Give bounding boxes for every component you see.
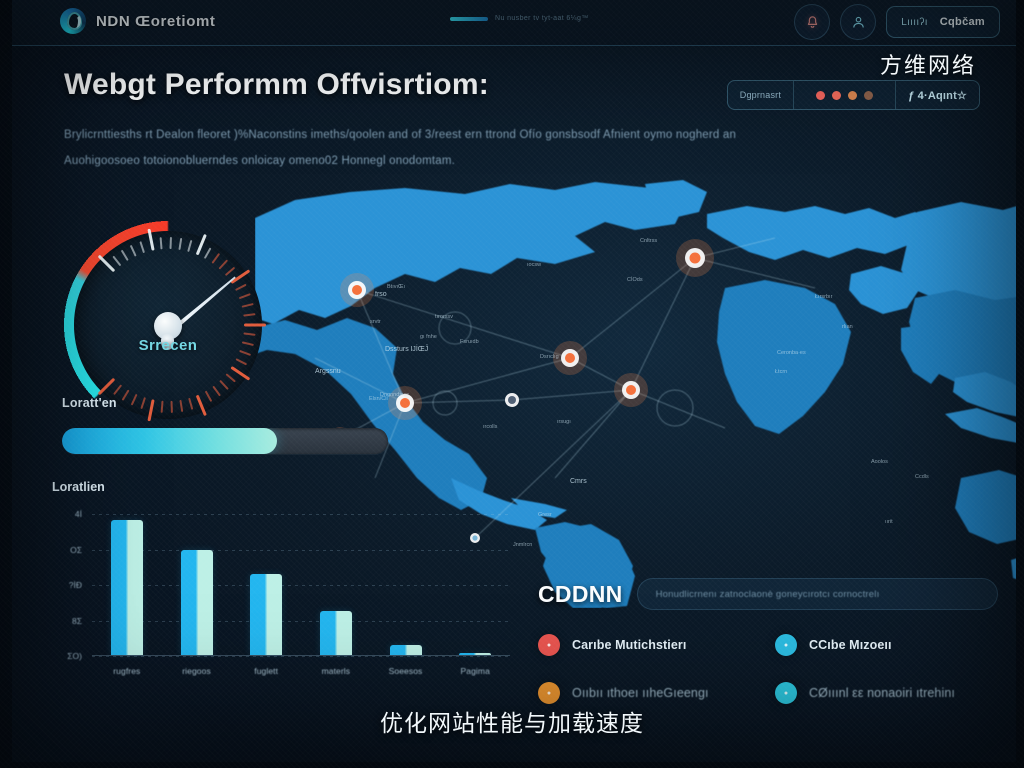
notification-button[interactable] — [794, 4, 830, 40]
cdn-search-placeholder: Honudlicrnenı zatnoclaonè goneycırotcı c… — [656, 589, 880, 600]
chart-x-tick-label: materls — [301, 666, 371, 676]
status-dot-2 — [832, 91, 841, 100]
table-row[interactable] — [250, 574, 282, 655]
gauge-tick — [225, 267, 235, 276]
gauge-tick — [235, 358, 247, 365]
table-row[interactable] — [320, 611, 352, 655]
cdn-legend-list: ●Carıbe Mutichstierı●CCıbe Mızoeıı●Oııbı… — [538, 634, 998, 704]
cdn-search-field[interactable]: Honudlicrnenı zatnoclaonè goneycırotcı c… — [637, 578, 998, 610]
performance-gauge: Srrecen — [48, 205, 288, 380]
chart-x-tick-label: rugfres — [92, 666, 162, 676]
chart-bar-slot — [371, 645, 441, 655]
map-place-label: Łırsrbır — [815, 294, 833, 300]
gauge-tick — [225, 373, 235, 382]
chart-x-axis — [92, 655, 510, 656]
chart-y-tick-label: 8Ʃ — [72, 616, 82, 626]
list-item[interactable]: ●Carıbe Mutichstierı — [538, 634, 761, 656]
list-item-label: Carıbe Mutichstierı — [572, 638, 686, 652]
map-place-label: gı fnhe — [420, 334, 437, 340]
dashboard-canvas: CnltrssfrsoDssturs ĲİŒĴŁırsrbırrlıanCero… — [0, 0, 1024, 768]
map-place-label: Cnltrss — [640, 238, 657, 244]
gauge-tick — [130, 245, 137, 257]
bell-notification-icon — [805, 15, 820, 30]
map-place-label: Ceronba·es — [777, 350, 806, 356]
brand-logo[interactable]: NDN Œoretiomt — [60, 8, 216, 34]
page-subtitle: Brylicrnttiesths rt Dealon fleoret )%Nac… — [64, 122, 764, 174]
gauge-tick — [121, 250, 129, 261]
status-dot-4 — [864, 91, 873, 100]
list-item[interactable]: ●CCıbe Mızoeıı — [775, 634, 998, 656]
gauge-tick — [219, 380, 229, 390]
chart-y-tick-label: ƩO) — [67, 651, 82, 661]
globe-cache-icon: ● — [538, 634, 560, 656]
segment-right-label: ƒ 4·Aqınt☆ — [908, 89, 967, 102]
map-place-label: srvtr — [370, 319, 381, 325]
auth-buttons-group[interactable]: Lııııʔı Cqbčam — [886, 6, 1000, 38]
map-place-label: ırcolls — [483, 424, 498, 430]
login-button[interactable]: Lııııʔı — [901, 17, 928, 28]
table-row[interactable] — [390, 645, 422, 655]
brand-name: NDN Œoretiomt — [96, 13, 216, 30]
shield-opt-icon: ● — [538, 682, 560, 704]
progress-bar-fill — [62, 428, 277, 454]
gauge-tick — [160, 237, 163, 249]
frame-edge-right — [1016, 0, 1024, 768]
chart-bar-slot — [231, 574, 301, 655]
map-place-label: ırsugı — [557, 419, 571, 425]
gauge-tick — [235, 284, 247, 291]
cdn-header: CDDNN Honudlicrnenı zatnoclaonè goneycır… — [538, 578, 998, 610]
chart-x-tick-label: Soeesos — [371, 666, 441, 676]
progress-title: Loratt'en — [62, 396, 388, 410]
map-place-label: Cmrs — [570, 478, 587, 485]
frame-edge-bottom — [0, 762, 1024, 768]
gauge-tick — [212, 386, 221, 397]
map-place-label: Aoolos — [871, 459, 888, 465]
watermark: 方维网络 — [880, 48, 976, 80]
top-navigation-bar: NDN Œoretiomt Nu nusber tv tyt-aat 6¼g™ — [0, 0, 1024, 46]
user-account-button[interactable] — [840, 4, 876, 40]
map-place-label: CİOds — [627, 276, 643, 283]
map-place-label: tırorssv — [435, 314, 453, 320]
gauge-tick — [244, 324, 266, 327]
map-place-label: BtıvıŒı — [387, 284, 405, 290]
topbar-actions: Lııııʔı Cqbčam — [794, 4, 1000, 40]
table-row[interactable] — [181, 550, 213, 655]
map-place-label: Dssturs ĲİŒĴ — [385, 344, 429, 353]
gauge-tick — [178, 238, 182, 250]
gauge-tick — [112, 256, 121, 267]
gauge-tick — [218, 259, 228, 269]
list-item-label: CCıbe Mızoeıı — [809, 638, 892, 652]
map-place-label: Fsruıdb — [460, 339, 479, 345]
gauge-tick — [242, 303, 254, 308]
segment-status-dots — [793, 81, 895, 109]
cloud-node-icon: ● — [775, 634, 797, 656]
segment-left-label: Dgprnasrt — [740, 90, 781, 100]
load-progress-block: Loratt'en — [62, 396, 388, 454]
map-place-label: rlıan — [842, 324, 853, 330]
map-place-label: ıocsw — [527, 262, 541, 268]
chart-y-tick-label: OƩ — [70, 545, 82, 555]
cdn-legend-section: CDDNN Honudlicrnenı zatnoclaonè goneycır… — [538, 578, 998, 704]
gauge-tick — [139, 241, 145, 253]
map-place-label: Dsrıclıg — [540, 354, 559, 360]
gauge-tick — [204, 247, 212, 258]
gauge-tick — [187, 240, 192, 252]
list-item-label: CØııınl εε nonaoiri ıtrehinı — [809, 686, 955, 700]
map-place-label: ıırit — [885, 519, 893, 525]
gauge-hub — [154, 312, 182, 340]
cdn-heading: CDDNN — [538, 581, 623, 608]
user-account-icon — [851, 14, 866, 31]
gauge-tick — [239, 293, 251, 299]
chart-y-tick-label: 4İ — [75, 509, 82, 519]
list-item-label: Oııbıı ıthoeı ııheGıeengı — [572, 686, 709, 700]
topbar-meta: Nu nusber tv tyt-aat 6¼g™ — [450, 15, 589, 22]
chart-bar-slot — [301, 611, 371, 655]
map-place-label: Argssnu — [315, 368, 341, 375]
map-place-label: Gresr — [538, 512, 552, 518]
gauge-tick — [243, 313, 255, 316]
status-dot-3 — [848, 91, 857, 100]
status-dot-group — [806, 91, 883, 100]
status-dot-1 — [816, 91, 825, 100]
segment-right[interactable]: ƒ 4·Aqınt☆ — [895, 81, 979, 109]
chart-x-tick-label: fuglett — [231, 666, 301, 676]
gauge-label: Srrecen — [48, 337, 288, 354]
chart-x-axis-labels: rugfresriegoosfuglettmaterlsSoeesosPagim… — [92, 666, 510, 676]
status-segmented-control[interactable]: Dgprnasrt ƒ 4·Aqınt☆ — [727, 80, 980, 110]
chart-bar-slot — [92, 520, 162, 655]
gauge-tick — [230, 269, 250, 284]
list-item[interactable]: ●Oııbıı ıthoeı ııheGıeengı — [538, 682, 761, 704]
page-title: Webgt Performm Offvisrtiom: — [64, 68, 764, 102]
latency-bar-chart: Loratlien 4İOƩ?İÐ8ƩƩO) rugfresriegoosfug… — [52, 480, 522, 695]
gauge-tick — [147, 229, 154, 251]
edge-network-icon: ● — [775, 682, 797, 704]
bottom-caption: 优化网站性能与加载速度 — [0, 704, 1024, 738]
chart-plot-area — [92, 514, 510, 656]
chart-x-tick-label: Pagima — [440, 666, 510, 676]
table-row[interactable] — [111, 520, 143, 655]
gauge-tick — [113, 384, 122, 395]
chart-y-tick-label: ?İÐ — [69, 580, 82, 590]
list-item[interactable]: ●CØııınl εε nonaoiri ıtrehinı — [775, 682, 998, 704]
chart-x-tick-label: riegoos — [162, 666, 232, 676]
chart-bars[interactable] — [92, 514, 510, 655]
gauge-tick — [196, 234, 207, 255]
chart-y-axis-labels: 4İOƩ?İÐ8ƩƩO) — [52, 514, 88, 656]
progress-bar-track[interactable] — [62, 428, 388, 454]
map-place-label: frso — [375, 291, 387, 298]
signup-button[interactable]: Cqbčam — [940, 16, 985, 28]
gauge-tick — [243, 332, 255, 335]
hero-section: Webgt Performm Offvisrtiom: Brylicrnttie… — [64, 68, 764, 174]
map-place-label: Łtcrrı — [775, 369, 788, 375]
meta-dash — [450, 17, 488, 21]
chart-bar-slot — [162, 550, 232, 655]
frame-edge-left — [0, 0, 12, 768]
map-place-label: Ccdls — [915, 474, 929, 480]
gauge-tick — [211, 253, 220, 264]
segment-left[interactable]: Dgprnasrt — [728, 81, 793, 109]
chart-gridline — [92, 656, 510, 657]
cdn-swoosh-logo-icon — [60, 8, 86, 34]
chart-title: Loratlien — [52, 480, 522, 494]
meta-text: Nu nusber tv tyt-aat 6¼g™ — [495, 15, 589, 22]
gauge-tick — [169, 237, 171, 249]
